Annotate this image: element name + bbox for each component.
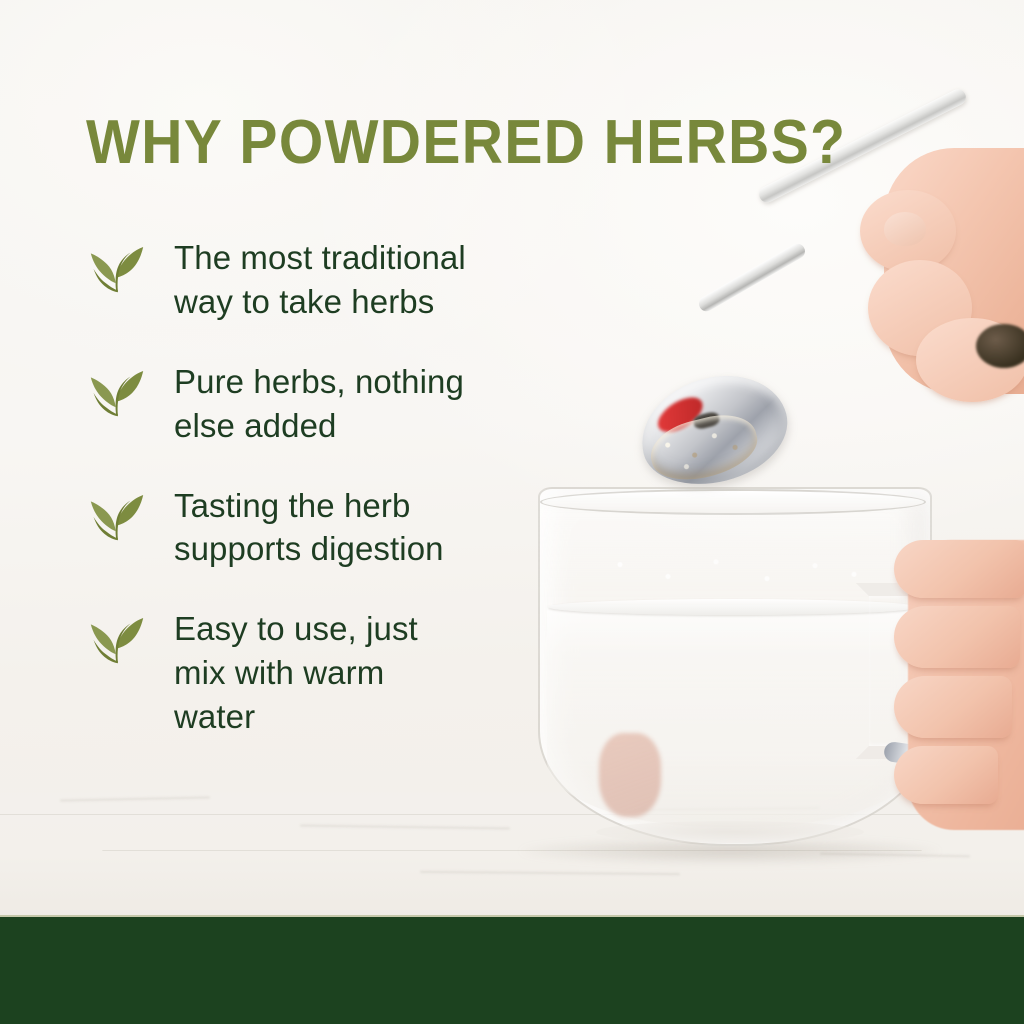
leaf-sprig-icon <box>88 486 146 542</box>
benefit-list: The most traditional way to take herbs P… <box>88 236 568 739</box>
water-bubbles <box>584 543 884 597</box>
mug-rim <box>540 489 926 515</box>
hand-holding-mug <box>900 534 1024 834</box>
list-item-label: Easy to use, just mix with warm water <box>146 607 418 739</box>
finger <box>894 746 998 804</box>
finger <box>894 606 1020 668</box>
finger <box>894 676 1012 738</box>
list-item-label: Pure herbs, nothing else added <box>146 360 464 448</box>
hand-holding-spoon <box>858 148 1024 398</box>
finger <box>894 540 1024 598</box>
finger-refraction <box>599 733 661 817</box>
dark-reflection <box>976 324 1024 368</box>
list-item: The most traditional way to take herbs <box>88 236 568 324</box>
thumbnail <box>884 212 926 246</box>
list-item-label: Tasting the herb supports digestion <box>146 484 444 572</box>
list-item: Easy to use, just mix with warm water <box>88 607 568 739</box>
page-title: WHY POWDERED HERBS? <box>86 112 846 174</box>
list-item: Tasting the herb supports digestion <box>88 484 568 572</box>
bottom-band <box>0 917 1024 1024</box>
list-item: Pure herbs, nothing else added <box>88 360 568 448</box>
glass-mug <box>538 487 928 847</box>
spoon-neck <box>696 241 807 314</box>
leaf-sprig-icon <box>88 362 146 418</box>
mug-base <box>596 821 864 843</box>
list-item-label: The most traditional way to take herbs <box>146 236 466 324</box>
marketing-graphic: WHY POWDERED HERBS? The most traditional… <box>0 0 1024 1024</box>
leaf-sprig-icon <box>88 609 146 665</box>
leaf-sprig-icon <box>88 238 146 294</box>
spoon-bowl <box>630 362 799 499</box>
